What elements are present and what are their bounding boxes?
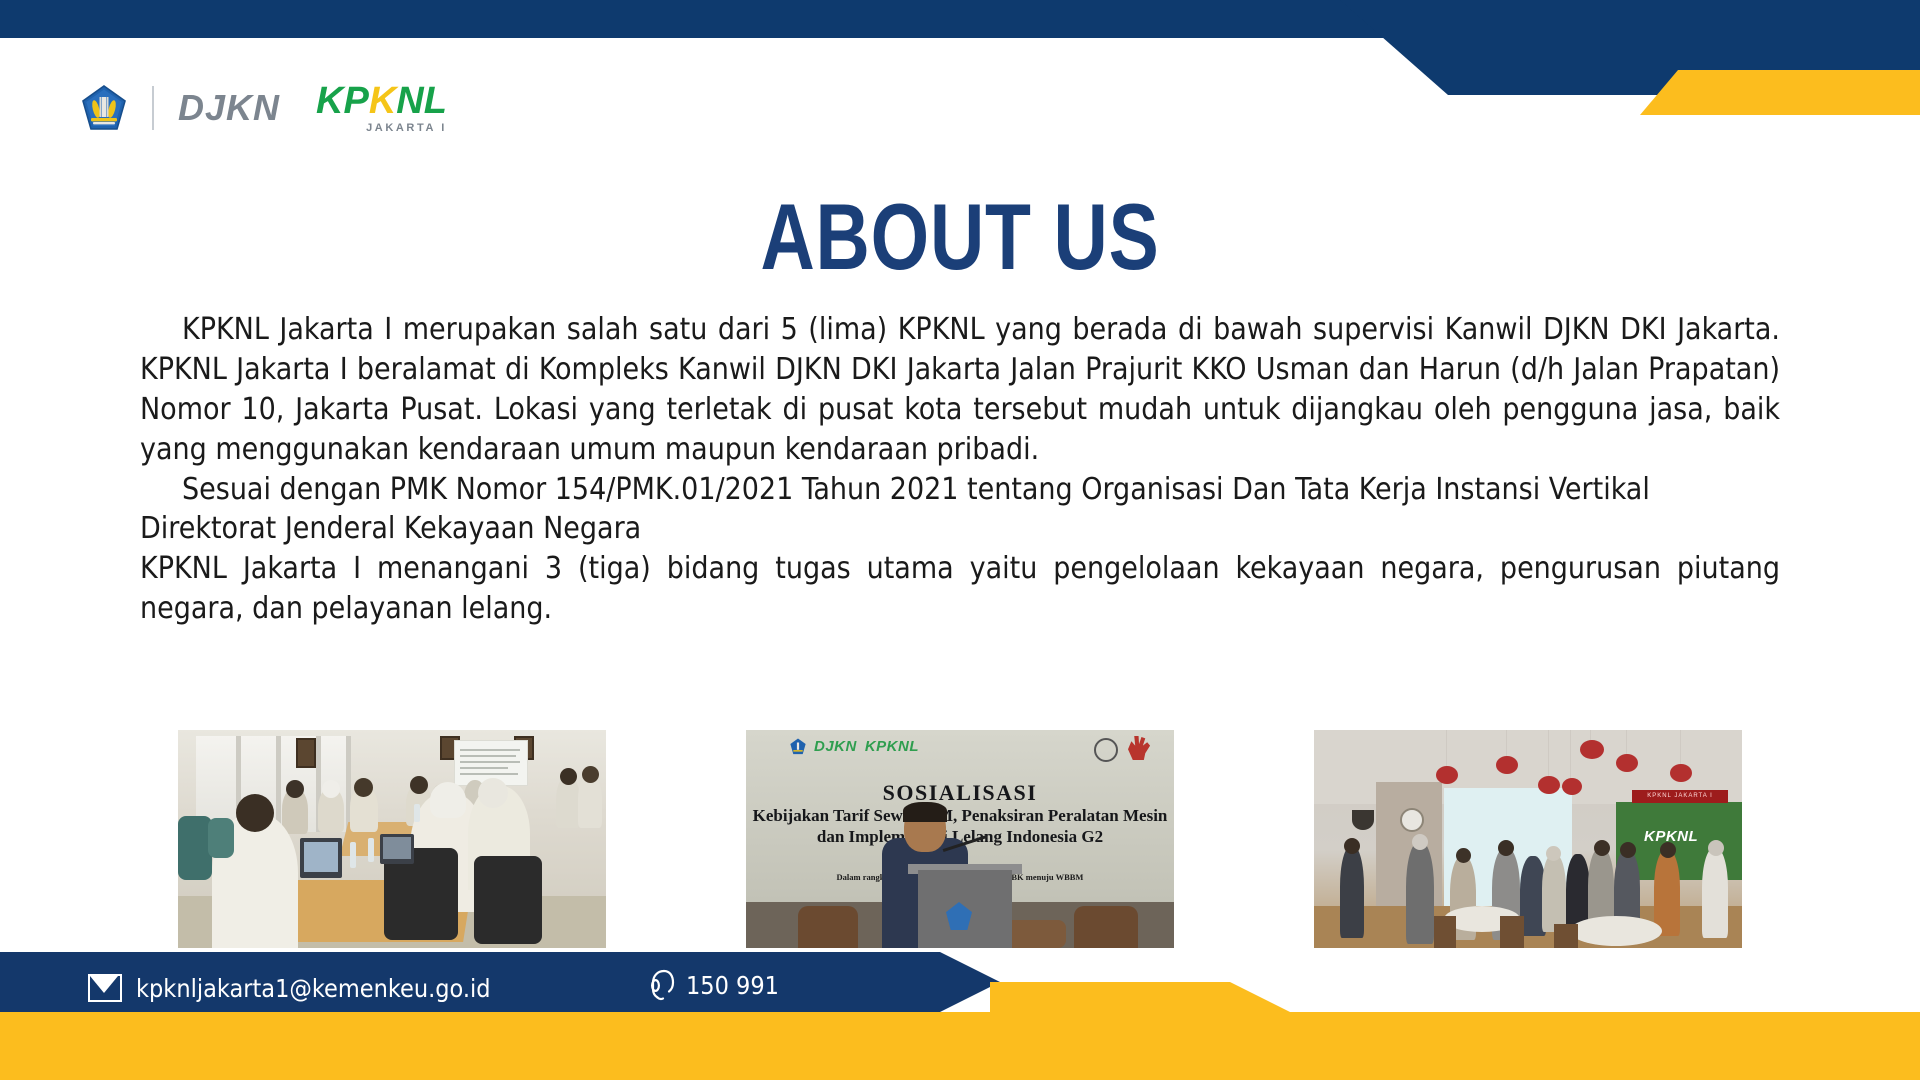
lantern — [1496, 756, 1518, 774]
person — [1406, 842, 1434, 944]
footer-phone[interactable]: 150 991 — [648, 968, 779, 1002]
lantern — [1436, 766, 1458, 784]
person — [1412, 834, 1428, 850]
person — [1620, 842, 1636, 858]
kemenkeu-emblem-icon — [790, 738, 806, 755]
red-sign-text: KPKNL JAKARTA I — [1632, 790, 1728, 803]
wall-clock-icon — [1400, 808, 1424, 832]
red-sign: KPKNL JAKARTA I — [1632, 790, 1728, 803]
person — [1702, 848, 1728, 938]
office-chair — [178, 816, 212, 880]
about-paragraph-1: KPKNL Jakarta I merupakan salah satu dar… — [140, 310, 1780, 470]
kpknl-text-part2: NL — [396, 80, 447, 122]
office-chair — [208, 818, 234, 858]
banner-logos: DJKN KPKNL — [790, 738, 919, 755]
person — [1456, 848, 1471, 863]
footer-email-text: kpknljakarta1@kemenkeu.go.id — [136, 976, 491, 1001]
person — [1594, 840, 1610, 856]
person — [1542, 854, 1566, 932]
kpknl-text-accent: K — [369, 80, 396, 122]
footer-yellow-step — [990, 982, 1290, 1012]
kpknl-subtitle: JAKARTA I — [316, 123, 447, 134]
kemenkeu-emblem-icon — [82, 85, 126, 131]
kpknl-text-part1: KP — [316, 80, 369, 122]
envelope-icon — [88, 974, 122, 1002]
person — [1660, 842, 1676, 858]
photo-meeting-room — [178, 730, 606, 948]
lantern — [1580, 740, 1604, 759]
person — [1654, 850, 1680, 936]
person — [1498, 840, 1514, 856]
person — [1546, 846, 1561, 861]
lantern — [1538, 776, 1560, 794]
wooden-chair — [1500, 916, 1524, 948]
round-table — [1570, 916, 1662, 946]
speaker-hair — [903, 802, 947, 822]
photo-sosialisasi: DJKN KPKNL SOSIALISASI Kebijakan Tarif S… — [746, 730, 1174, 948]
person — [1340, 846, 1364, 938]
brand-divider — [152, 86, 154, 130]
person — [1708, 840, 1724, 856]
page-title: ABOUT US — [192, 190, 1728, 284]
wooden-chair — [798, 906, 858, 948]
pendant-lamp — [1352, 810, 1374, 830]
wooden-chair — [1074, 906, 1138, 948]
lantern — [1670, 764, 1692, 782]
footer-email[interactable]: kpknljakarta1@kemenkeu.go.id — [88, 974, 491, 1002]
about-paragraph-3: KPKNL Jakarta I menangani 3 (tiga) bidan… — [140, 549, 1780, 629]
wooden-chair — [1554, 924, 1578, 948]
brand-lockup: DJKN KPKNL JAKARTA I — [82, 82, 447, 134]
djkn-wordmark: DJKN — [178, 90, 280, 126]
lantern — [1562, 778, 1582, 795]
kpknl-logo: KPKNL JAKARTA I — [316, 82, 447, 134]
top-yellow-accent — [1640, 70, 1920, 115]
banner-heading: SOSIALISASI — [746, 780, 1174, 806]
photo-strip: DJKN KPKNL SOSIALISASI Kebijakan Tarif S… — [0, 730, 1920, 948]
banner-seal-icon — [1094, 738, 1118, 762]
wooden-chair — [1434, 916, 1456, 948]
photo-lobby: KPKNL KPKNL JAKARTA I — [1314, 730, 1742, 948]
headset-icon — [648, 968, 680, 1002]
person — [1344, 838, 1360, 854]
kpknl-wordmark: KPKNL — [316, 82, 447, 120]
banner-djkn-text: DJKN — [814, 738, 857, 755]
wall-frame — [296, 738, 316, 768]
about-us-slide: DJKN KPKNL JAKARTA I ABOUT US KPKNL Jaka… — [0, 0, 1920, 1080]
banner-kpknl-text: KPKNL — [865, 738, 919, 755]
footer-yellow-band — [0, 1012, 1920, 1080]
footer-phone-text: 150 991 — [686, 973, 779, 998]
about-body: KPKNL Jakarta I merupakan salah satu dar… — [140, 310, 1780, 629]
lantern — [1616, 754, 1638, 772]
office-chair — [474, 856, 542, 944]
about-paragraph-2: Sesuai dengan PMK Nomor 154/PMK.01/2021 … — [140, 470, 1780, 550]
